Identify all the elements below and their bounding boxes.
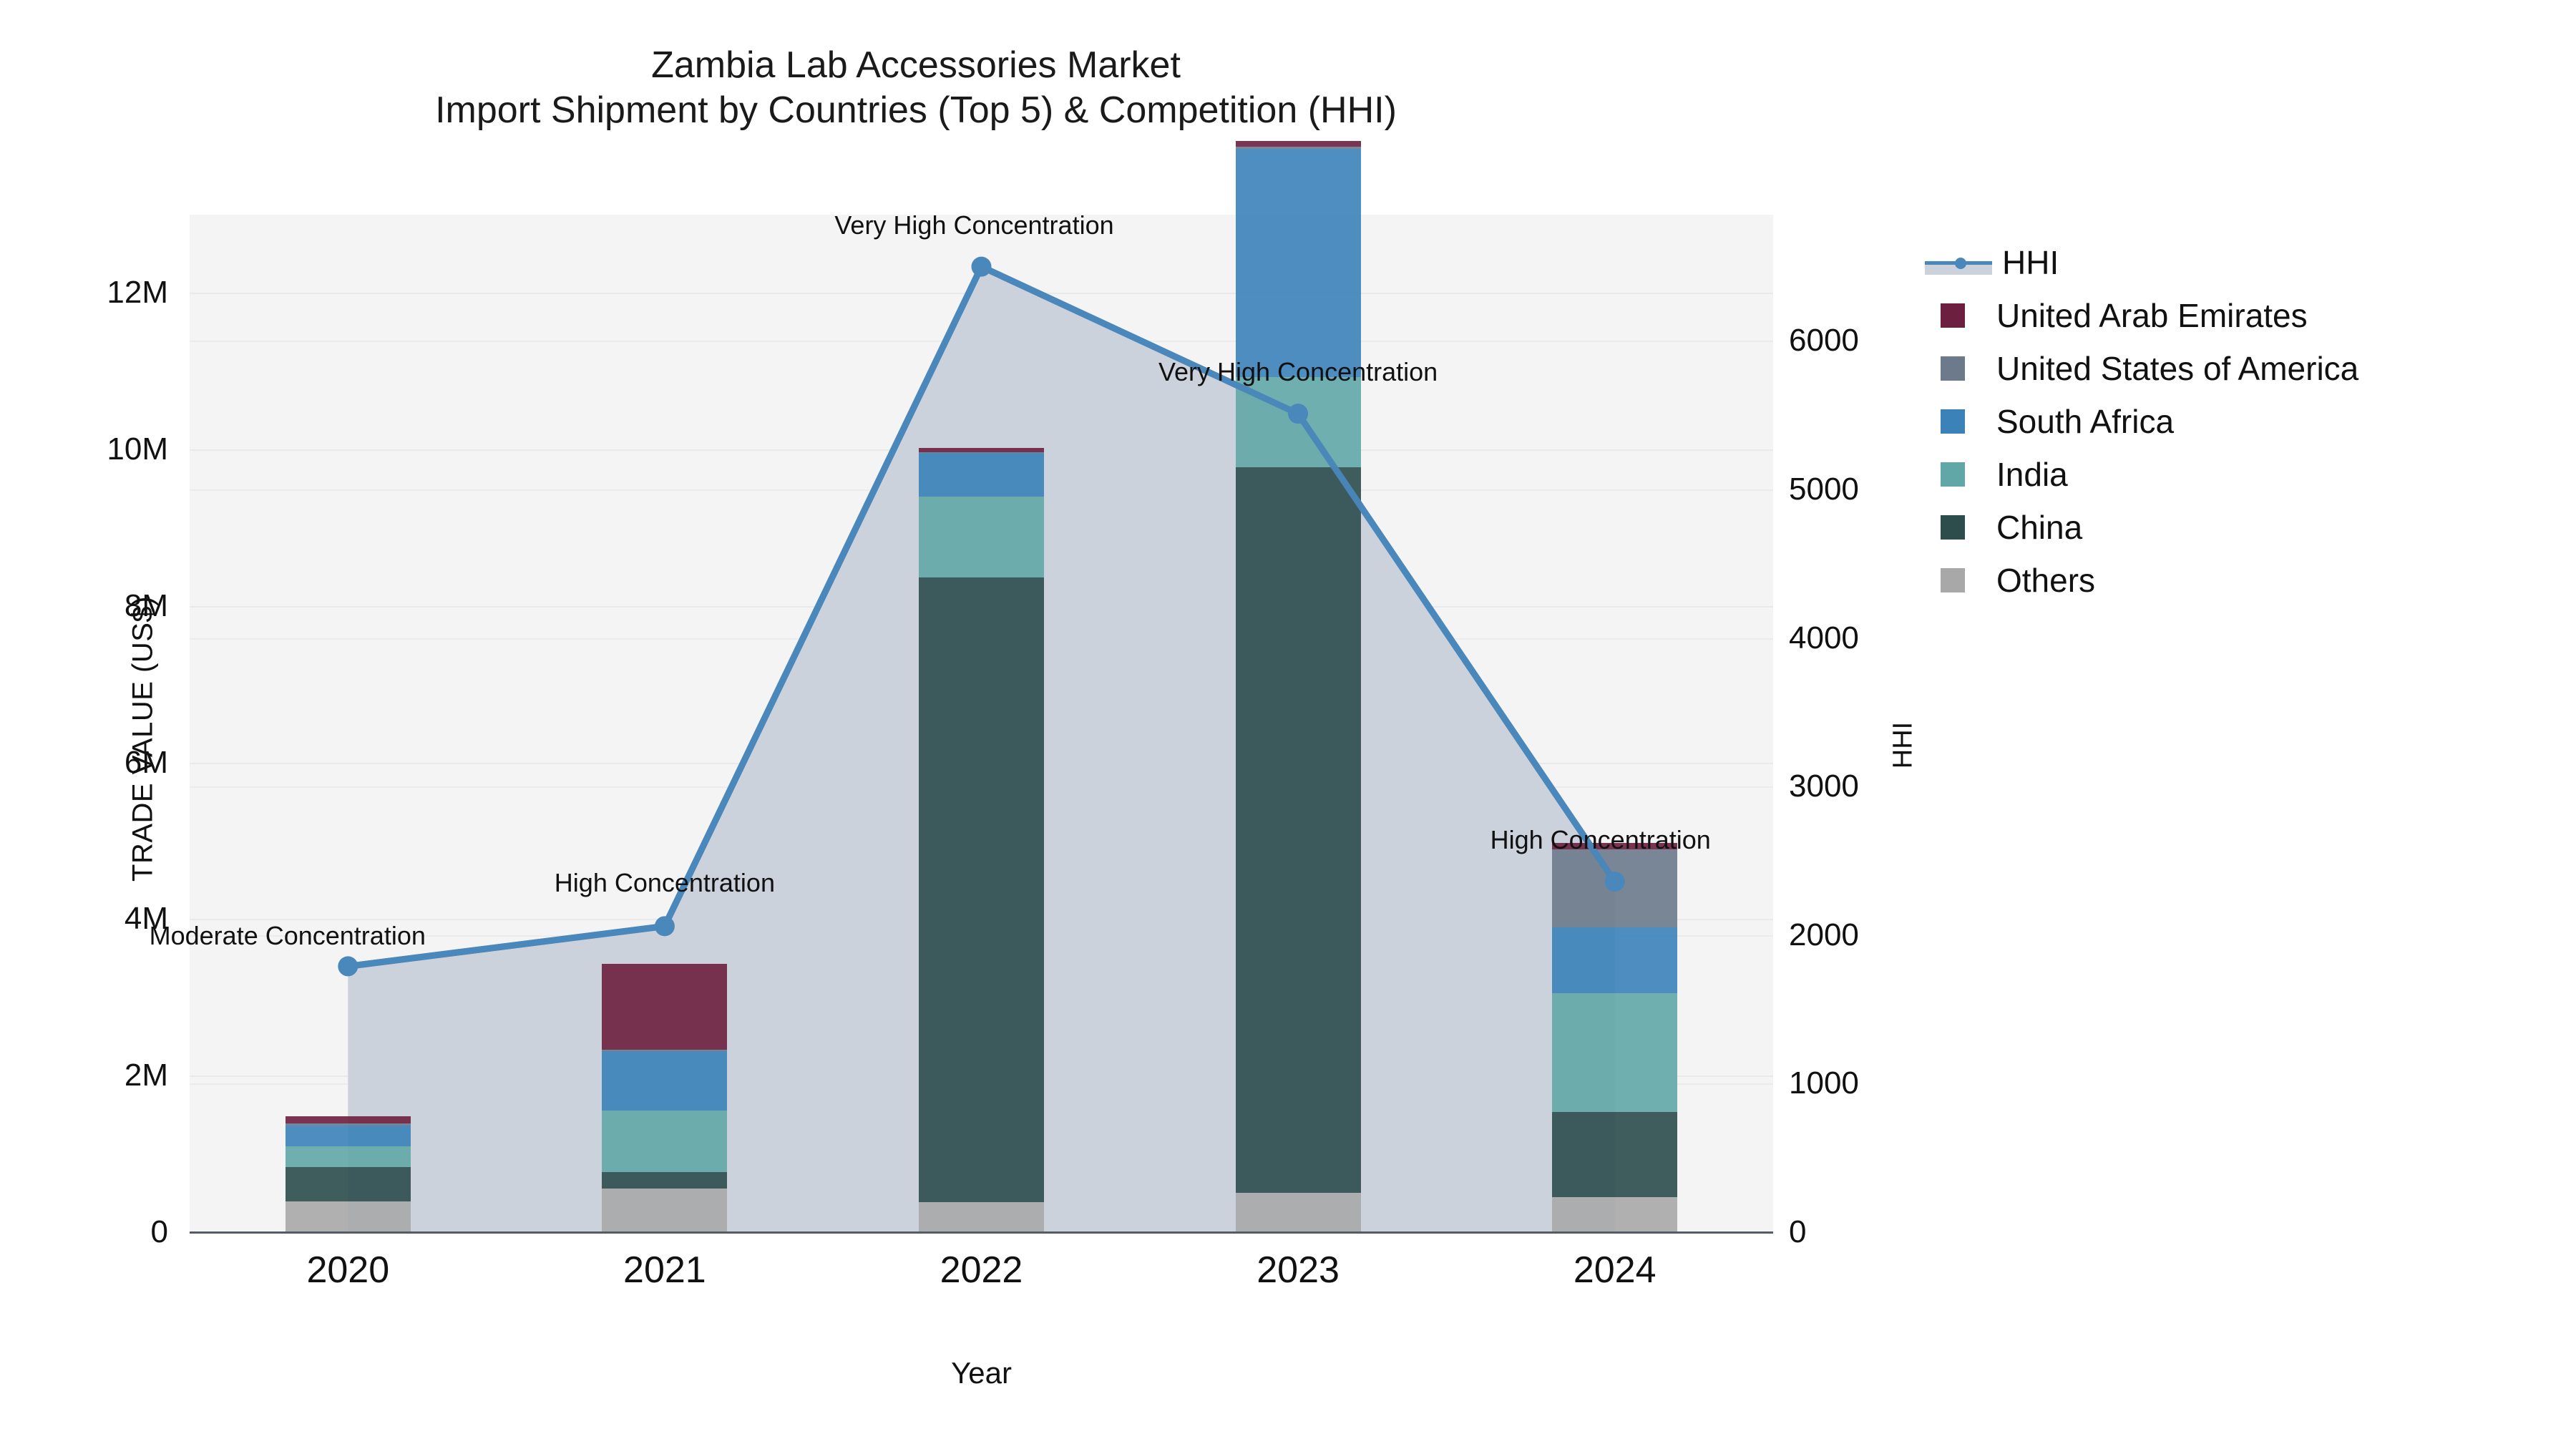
y-tick-label: 10M bbox=[29, 431, 168, 467]
x-axis-title: Year bbox=[190, 1356, 1773, 1390]
legend-item[interactable]: United Arab Emirates bbox=[1925, 289, 2358, 342]
bar-segment[interactable] bbox=[1552, 993, 1677, 1111]
bar-group[interactable] bbox=[919, 215, 1044, 1232]
legend-item-label: United Arab Emirates bbox=[1996, 296, 2308, 335]
y-tick-label: 2M bbox=[29, 1058, 168, 1093]
bar-segment[interactable] bbox=[919, 453, 1044, 497]
bar-segment[interactable] bbox=[1552, 849, 1677, 927]
y-tick-label: 0 bbox=[29, 1214, 168, 1250]
bar-segment[interactable] bbox=[1236, 141, 1361, 147]
legend-color-swatch bbox=[1941, 303, 1965, 328]
bar-segment[interactable] bbox=[286, 1123, 411, 1126]
bar-segment[interactable] bbox=[919, 577, 1044, 1202]
concentration-annotation: High Concentration bbox=[555, 868, 775, 898]
legend-item[interactable]: United States of America bbox=[1925, 342, 2358, 395]
y2-tick-label: 0 bbox=[1789, 1214, 1806, 1250]
bar-segment[interactable] bbox=[602, 1189, 727, 1232]
legend-item-label: Others bbox=[1996, 561, 2095, 600]
y2-tick-label: 1000 bbox=[1789, 1065, 1859, 1101]
y2-tick-label: 5000 bbox=[1789, 472, 1859, 507]
x-axis-line bbox=[190, 1231, 1773, 1234]
x-tick-label: 2021 bbox=[623, 1249, 706, 1292]
legend-item[interactable]: China bbox=[1925, 501, 2358, 554]
bar-group[interactable] bbox=[286, 215, 411, 1232]
chart-title: Zambia Lab Accessories Market Import Shi… bbox=[0, 43, 1832, 134]
y2-tick-label: 4000 bbox=[1789, 620, 1859, 656]
x-tick-label: 2023 bbox=[1257, 1249, 1340, 1292]
legend-item-label: China bbox=[1996, 508, 2082, 547]
concentration-annotation: Very High Concentration bbox=[834, 210, 1113, 240]
legend-item[interactable]: India bbox=[1925, 448, 2358, 501]
y2-axis-title: HHI bbox=[1888, 674, 1919, 817]
bar-segment[interactable] bbox=[602, 1051, 727, 1111]
concentration-annotation: High Concentration bbox=[1491, 825, 1711, 855]
legend-item-label: South Africa bbox=[1996, 402, 2174, 441]
legend-color-swatch bbox=[1941, 568, 1965, 592]
bar-segment[interactable] bbox=[602, 1172, 727, 1189]
bar-segment[interactable] bbox=[286, 1126, 411, 1146]
y2-tick-label: 6000 bbox=[1789, 323, 1859, 358]
chart-title-main: Zambia Lab Accessories Market bbox=[0, 43, 1832, 88]
x-tick-label: 2022 bbox=[940, 1249, 1023, 1292]
bar-segment[interactable] bbox=[1236, 377, 1361, 467]
bar-segment[interactable] bbox=[919, 452, 1044, 453]
y2-tick-label: 2000 bbox=[1789, 917, 1859, 953]
bar-group[interactable] bbox=[1552, 215, 1677, 1232]
bar-segment[interactable] bbox=[1236, 467, 1361, 1193]
legend-item-label: United States of America bbox=[1996, 349, 2358, 388]
legend-color-swatch bbox=[1941, 462, 1965, 487]
y-axis-title: TRADE VALUE (US$) bbox=[127, 589, 160, 889]
bar-segment[interactable] bbox=[602, 1050, 727, 1051]
legend-item[interactable]: South Africa bbox=[1925, 395, 2358, 448]
bar-segment[interactable] bbox=[286, 1116, 411, 1123]
y2-tick-label: 3000 bbox=[1789, 769, 1859, 804]
bar-segment[interactable] bbox=[1236, 1193, 1361, 1232]
legend-item-label: India bbox=[1996, 455, 2068, 494]
bar-segment[interactable] bbox=[1236, 147, 1361, 148]
legend-item-label: HHI bbox=[2002, 243, 2059, 282]
chart-legend: HHIUnited Arab EmiratesUnited States of … bbox=[1925, 236, 2358, 607]
chart-root: Zambia Lab Accessories Market Import Shi… bbox=[0, 0, 2576, 1449]
bar-segment[interactable] bbox=[1552, 1197, 1677, 1232]
x-tick-label: 2020 bbox=[306, 1249, 389, 1292]
bar-segment[interactable] bbox=[919, 1202, 1044, 1232]
bar-group[interactable] bbox=[602, 215, 727, 1232]
bar-segment[interactable] bbox=[286, 1201, 411, 1232]
concentration-annotation: Moderate Concentration bbox=[150, 921, 426, 951]
legend-item[interactable]: HHI bbox=[1925, 236, 2358, 289]
legend-line-marker-icon bbox=[1925, 250, 1992, 275]
x-tick-label: 2024 bbox=[1574, 1249, 1657, 1292]
bar-segment[interactable] bbox=[1236, 149, 1361, 377]
legend-color-swatch bbox=[1941, 356, 1965, 381]
y-tick-label: 12M bbox=[29, 275, 168, 311]
legend-dot-icon bbox=[1955, 258, 1966, 269]
concentration-annotation: Very High Concentration bbox=[1158, 357, 1438, 387]
plot-area: Moderate ConcentrationHigh Concentration… bbox=[190, 215, 1773, 1232]
bar-segment[interactable] bbox=[286, 1146, 411, 1167]
bar-segment[interactable] bbox=[919, 448, 1044, 452]
bar-segment[interactable] bbox=[1552, 1112, 1677, 1197]
bar-segment[interactable] bbox=[1552, 927, 1677, 993]
bar-segment[interactable] bbox=[602, 1111, 727, 1172]
legend-item[interactable]: Others bbox=[1925, 554, 2358, 607]
chart-title-sub: Import Shipment by Countries (Top 5) & C… bbox=[0, 88, 1832, 133]
legend-color-swatch bbox=[1941, 515, 1965, 540]
y-tick-label: 4M bbox=[29, 901, 168, 937]
bar-segment[interactable] bbox=[286, 1167, 411, 1202]
legend-color-swatch bbox=[1941, 409, 1965, 434]
bar-segment[interactable] bbox=[919, 497, 1044, 577]
bar-segment[interactable] bbox=[602, 964, 727, 1049]
